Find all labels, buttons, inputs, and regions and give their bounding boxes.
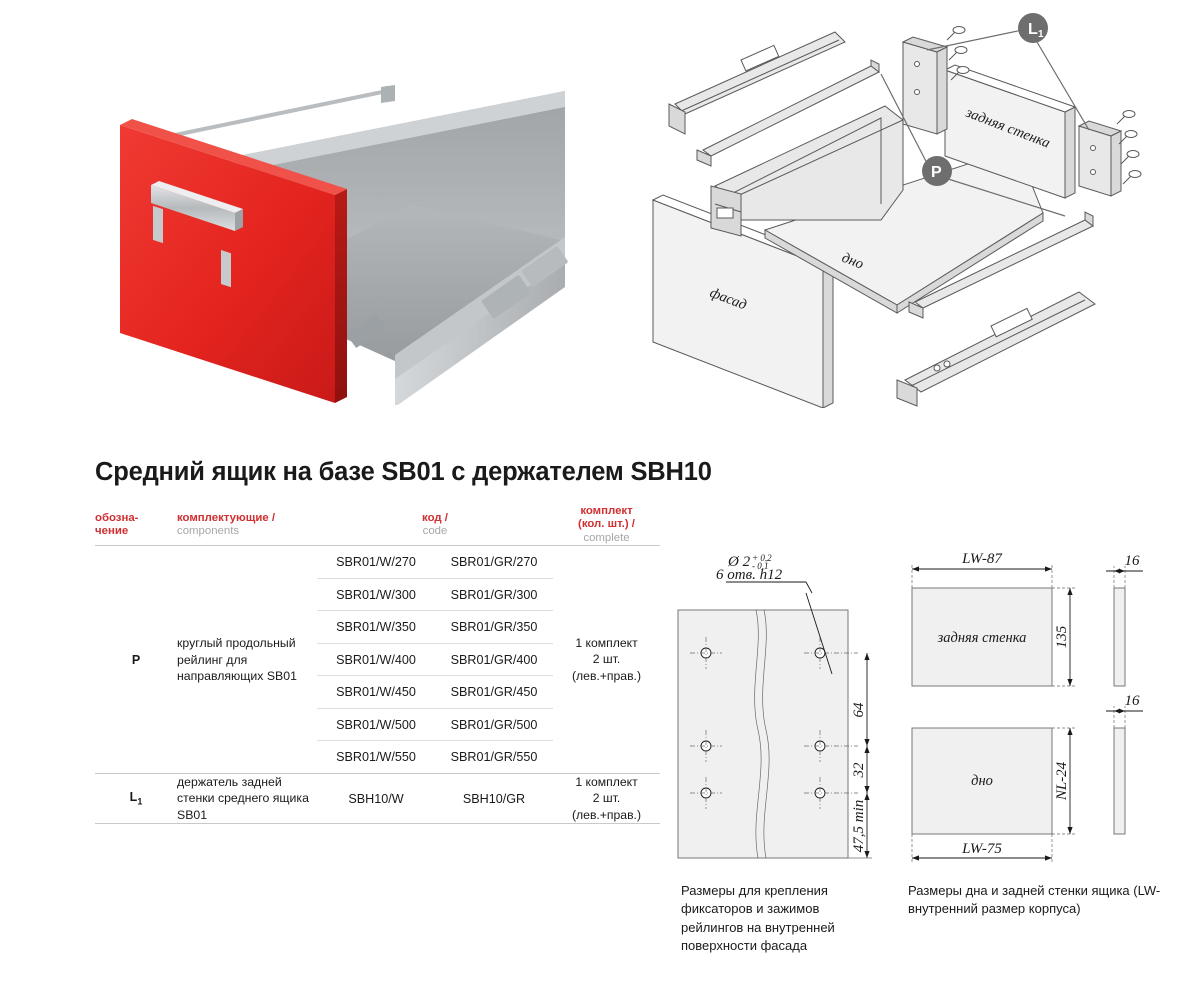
cell-component-l1: держатель задней стенки среднего ящика S… <box>177 773 317 823</box>
exploded-diagram-svg: .ln{stroke:#5a5a5a;stroke-width:1;fill:n… <box>645 8 1200 408</box>
bottom-edge-rect <box>1114 728 1125 834</box>
header-components: комплектующие / components <box>177 505 317 545</box>
header-kit-en: complete <box>553 532 660 545</box>
bottom-label: дно <box>971 773 993 789</box>
table-bottom-divider <box>95 823 660 824</box>
facade-panel-outline <box>678 610 848 858</box>
cell-designation-l1: L1 <box>95 773 177 823</box>
header-kit: комплект (кол. шт.) / complete <box>553 505 660 545</box>
cell-code-w: SBH10/W <box>317 773 435 823</box>
cell-code-gr: SBR01/GR/300 <box>435 578 553 611</box>
exploded-assembly-diagram: .ln{stroke:#5a5a5a;stroke-width:1;fill:n… <box>645 8 1200 408</box>
cell-code-gr: SBR01/GR/350 <box>435 611 553 644</box>
cell-code-gr: SBR01/GR/500 <box>435 708 553 741</box>
hole-count-note: 6 отв. h12 <box>716 567 783 583</box>
panels-dimensions-svg: .dln2{stroke:#1a1a1a;stroke-width:0.9;fi… <box>900 548 1195 873</box>
header-kit-line2: (кол. шт.) / <box>553 518 660 531</box>
back-wall-thickness-text: 16 <box>1125 553 1141 569</box>
kit-line3: (лев.+прав.) <box>553 668 660 684</box>
header-code: код / code <box>317 505 553 545</box>
table-row: P круглый продольный рейлинг для направл… <box>95 546 660 579</box>
header-components-ru: комплектующие / <box>177 512 317 525</box>
header-code-ru: код / <box>317 512 553 525</box>
drawer-photo-svg <box>95 55 575 405</box>
bottom-thickness-text: 16 <box>1125 693 1141 709</box>
panels-dimensions-drawing: .dln2{stroke:#1a1a1a;stroke-width:0.9;fi… <box>900 548 1195 873</box>
table-row: L1 держатель задней стенки среднего ящик… <box>95 773 660 823</box>
cell-kit-p: 1 комплект 2 шт. (лев.+прав.) <box>553 546 660 773</box>
table-header-row: обозна- чение комплектующие / components… <box>95 505 660 545</box>
header-code-en: code <box>317 525 553 538</box>
cell-component-p: круглый продольный рейлинг для направляю… <box>177 546 317 773</box>
spec-table-element: обозна- чение комплектующие / components… <box>95 505 660 824</box>
caption-panels-drawing: Размеры дна и задней стенки ящика (LW-вн… <box>908 882 1188 919</box>
kit-line2: 2 шт. <box>553 790 660 806</box>
bottom-width-text: LW-75 <box>961 841 1002 857</box>
cell-code-gr: SBR01/GR/450 <box>435 676 553 709</box>
facade-drilling-drawing: .dln{stroke:#1a1a1a;stroke-width:0.9;fil… <box>660 548 905 873</box>
cell-code-gr: SBR01/GR/550 <box>435 741 553 773</box>
product-photo <box>95 55 575 405</box>
back-wall-edge-rect <box>1114 588 1125 686</box>
slide-rail-upper-left <box>669 32 845 134</box>
kit-line2: 2 шт. <box>553 651 660 667</box>
drawer-side-profile <box>711 106 903 236</box>
caption-facade-drawing: Размеры для крепления фиксаторов и зажим… <box>681 882 876 956</box>
back-wall-label: задняя стенка <box>937 630 1027 646</box>
cell-code-w: SBR01/W/300 <box>317 578 435 611</box>
dim-text-32: 32 <box>851 762 867 779</box>
cell-code-w: SBR01/W/400 <box>317 643 435 676</box>
holder-bracket-left <box>903 37 947 134</box>
cell-code-w: SBR01/W/500 <box>317 708 435 741</box>
back-wall-height-text: 135 <box>1054 625 1070 648</box>
cell-kit-l1: 1 комплект 2 шт. (лев.+прав.) <box>553 773 660 823</box>
bottom-height-text: NL-24 <box>1054 761 1070 801</box>
header-components-en: components <box>177 525 317 538</box>
holder-bracket-right <box>1079 121 1121 196</box>
cell-code-w: SBR01/W/450 <box>317 676 435 709</box>
page-title: Средний ящик на базе SB01 с держателем S… <box>95 458 712 487</box>
cell-code-w: SBR01/W/350 <box>317 611 435 644</box>
header-designation-line2: чение <box>95 525 177 538</box>
cell-designation-p: P <box>95 546 177 773</box>
kit-line3: (лев.+прав.) <box>553 807 660 823</box>
header-kit-line1: комплект <box>553 505 660 518</box>
header-designation: обозна- чение <box>95 505 177 545</box>
specification-table: обозна- чение комплектующие / components… <box>95 505 660 824</box>
cell-code-w: SBR01/W/270 <box>317 546 435 579</box>
kit-line1: 1 комплект <box>553 774 660 790</box>
top-illustrations: .ln{stroke:#5a5a5a;stroke-width:1;fill:n… <box>0 0 1200 420</box>
header-designation-line1: обозна- <box>95 512 177 525</box>
facade-drilling-svg: .dln{stroke:#1a1a1a;stroke-width:0.9;fil… <box>660 548 905 873</box>
dim-text-475: 47,5 min <box>851 800 867 853</box>
dim-text-64: 64 <box>851 702 867 718</box>
cell-code-gr: SBR01/GR/400 <box>435 643 553 676</box>
callout-P-text: P <box>931 164 942 181</box>
hole-note-kink <box>806 582 812 593</box>
cell-code-gr: SBH10/GR <box>435 773 553 823</box>
cell-code-w: SBR01/W/550 <box>317 741 435 773</box>
designation-l1-sub: 1 <box>137 797 142 807</box>
back-wall-width-text: LW-87 <box>961 551 1003 567</box>
kit-line1: 1 комплект <box>553 635 660 651</box>
callout-L1-sub: 1 <box>1038 29 1044 40</box>
cell-code-gr: SBR01/GR/270 <box>435 546 553 579</box>
callout-L1-text: L <box>1028 21 1038 38</box>
slide-rail-lower-right <box>897 292 1095 406</box>
